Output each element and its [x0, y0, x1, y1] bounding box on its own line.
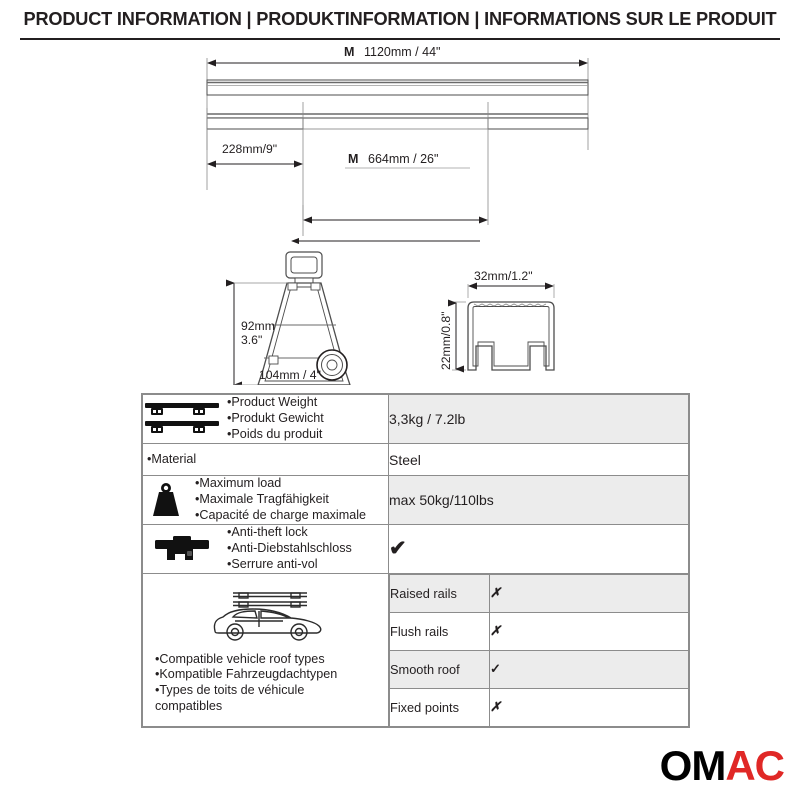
page-header: PRODUCT INFORMATION | PRODUKTINFORMATION… — [0, 0, 800, 38]
spec-value-maxload: max 50kg/110lbs — [389, 476, 689, 525]
lock-icon — [143, 532, 221, 566]
car-with-rack-icon — [203, 585, 329, 648]
roof-type-row: Raised rails ✗ — [390, 574, 689, 612]
technical-drawing-area: M 1120mm / 44" — [0, 40, 800, 385]
label-line: •Kompatible Fahrzeugdachtypen — [155, 667, 337, 681]
spec-label-cell-lock: •Anti-theft lock •Anti-Diebstahlschloss … — [143, 525, 389, 574]
spec-value-weight: 3,3kg / 7.2lb — [389, 395, 689, 444]
foot-height-in: 3.6" — [241, 333, 262, 347]
spec-label-cell-maxload: •Maximum load •Maximale Tragfähigkeit •C… — [143, 476, 389, 525]
spec-label-cell-material: •Material — [143, 443, 389, 476]
label-line: •Anti-theft lock — [227, 525, 388, 541]
label-line: •Serrure anti-vol — [227, 557, 388, 573]
foot-width-value: 104mm / 4" — [259, 368, 321, 382]
label-line: •Maximale Tragfähigkeit — [195, 492, 388, 508]
checkmark-icon: ✔ — [389, 537, 407, 560]
label-line: •Material — [147, 452, 388, 468]
spread-value: 664mm / 26" — [368, 152, 438, 166]
roof-types-label-cell: •Compatible vehicle roof types •Kompatib… — [143, 573, 389, 727]
bar-length-value: 1120mm / 44" — [364, 45, 440, 59]
label-line: •Compatible vehicle roof types — [155, 652, 325, 666]
foot-height-mm: 92mm — [241, 319, 275, 333]
spec-label-text-weight: •Product Weight •Produkt Gewicht •Poids … — [227, 395, 388, 443]
spec-value-lock: ✔ — [389, 525, 689, 574]
roof-types-table: Raised rails ✗ Flush rails ✗ Smooth roof… — [389, 574, 689, 727]
label-line: •Capacité de charge maximale — [195, 508, 388, 524]
roof-type-row: Flush rails ✗ — [390, 612, 689, 650]
weight-icon — [143, 480, 189, 520]
roof-type-value: ✗ — [490, 574, 689, 612]
spread-prefix: M — [348, 152, 358, 166]
bar-length-prefix: M — [344, 45, 354, 59]
roof-types-label-text: •Compatible vehicle roof types •Kompatib… — [155, 652, 388, 715]
roof-type-value: ✗ — [490, 612, 689, 650]
roof-type-name: Flush rails — [390, 612, 490, 650]
table-row-roof-types: •Compatible vehicle roof types •Kompatib… — [143, 573, 689, 727]
roof-type-row: Smooth roof ✓ — [390, 650, 689, 688]
page-title: PRODUCT INFORMATION | PRODUKTINFORMATION… — [24, 9, 777, 30]
table-row: •Product Weight •Produkt Gewicht •Poids … — [143, 395, 689, 444]
spec-label-cell-weight: •Product Weight •Produkt Gewicht •Poids … — [143, 395, 389, 444]
label-line: •Poids du produit — [227, 427, 388, 443]
label-line: •Maximum load — [195, 476, 388, 492]
roof-types-matrix-cell: Raised rails ✗ Flush rails ✗ Smooth roof… — [389, 573, 689, 727]
technical-drawing-svg: M 1120mm / 44" — [0, 40, 800, 385]
product-information-page: PRODUCT INFORMATION | PRODUKTINFORMATION… — [0, 0, 800, 800]
end-offset-value: 228mm/9" — [222, 142, 277, 156]
omac-logo: OMAC — [660, 745, 784, 787]
roof-type-name: Smooth roof — [390, 650, 490, 688]
logo-text-black: OM — [660, 742, 726, 789]
roof-type-value: ✓ — [490, 650, 689, 688]
spec-value-material: Steel — [389, 443, 689, 476]
roof-type-value: ✗ — [490, 688, 689, 726]
roof-type-name: Raised rails — [390, 574, 490, 612]
table-row: •Anti-theft lock •Anti-Diebstahlschloss … — [143, 525, 689, 574]
profile-height-value: 22mm/0.8" — [439, 311, 453, 370]
spec-label-text-lock: •Anti-theft lock •Anti-Diebstahlschloss … — [227, 525, 388, 573]
label-line: •Produkt Gewicht — [227, 411, 388, 427]
label-line: •Product Weight — [227, 395, 388, 411]
crossbars-icon — [143, 399, 221, 439]
label-line: •Anti-Diebstahlschloss — [227, 541, 388, 557]
roof-type-name: Fixed points — [390, 688, 490, 726]
roof-type-row: Fixed points ✗ — [390, 688, 689, 726]
logo-text-red: AC — [725, 742, 784, 789]
table-row: •Maximum load •Maximale Tragfähigkeit •C… — [143, 476, 689, 525]
label-line: •Types de toits de véhicule compatibles — [155, 683, 345, 715]
table-row: •Material Steel — [143, 443, 689, 476]
spec-label-text-maxload: •Maximum load •Maximale Tragfähigkeit •C… — [195, 476, 388, 524]
specifications-table: •Product Weight •Produkt Gewicht •Poids … — [141, 393, 690, 728]
spec-label-text-material: •Material — [143, 444, 388, 476]
profile-width-value: 32mm/1.2" — [474, 269, 533, 283]
